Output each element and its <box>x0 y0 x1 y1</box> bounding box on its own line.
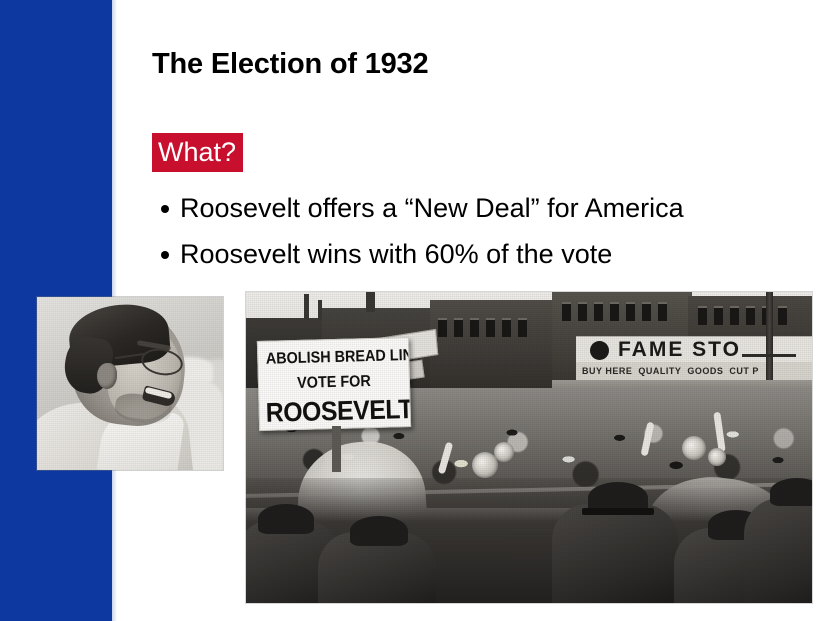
bullet-list: Roosevelt offers a “New Deal” for Americ… <box>158 185 798 277</box>
bullet-dot-icon <box>161 205 169 213</box>
list-item: Roosevelt offers a “New Deal” for Americ… <box>158 185 798 231</box>
crowd-film-grain <box>246 292 812 603</box>
fdr-portrait-photo <box>37 297 223 470</box>
section-tag-what: What? <box>152 133 243 172</box>
portrait-film-grain <box>37 297 223 470</box>
campaign-crowd-photo: FAME STO BUY HERE QUALITY GOODS CUT P FA… <box>246 292 812 603</box>
bullet-dot-icon <box>161 251 169 259</box>
list-item: Roosevelt wins with 60% of the vote <box>158 231 798 277</box>
list-item-label: Roosevelt offers a “New Deal” for Americ… <box>180 193 684 223</box>
list-item-label: Roosevelt wins with 60% of the vote <box>180 239 612 269</box>
page-title: The Election of 1932 <box>152 48 428 81</box>
presentation-slide: The Election of 1932 What? Roosevelt off… <box>0 0 828 621</box>
